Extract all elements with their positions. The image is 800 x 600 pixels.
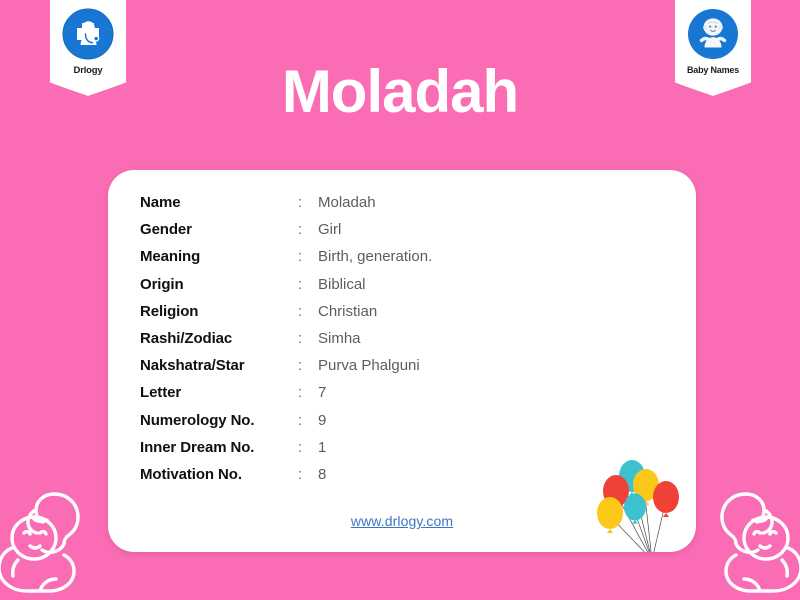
doctor-stethoscope-cross-icon [61,7,115,61]
row-label: Letter [140,384,298,401]
table-row: Gender : Girl [140,221,660,248]
name-details-table: Name : Moladah Gender : Girl Meaning : B… [140,194,660,493]
row-label: Motivation No. [140,466,298,483]
mother-and-baby-icon [0,476,106,600]
table-row: Religion : Christian [140,303,660,330]
row-separator: : [298,248,318,265]
table-row: Rashi/Zodiac : Simha [140,330,660,357]
row-separator: : [298,412,318,429]
table-row: Meaning : Birth, generation. [140,248,660,275]
page-title: Moladah [0,62,800,122]
row-value: Simha [318,330,361,347]
row-label: Numerology No. [140,412,298,429]
row-value: Birth, generation. [318,248,432,265]
row-separator: : [298,439,318,456]
baby-icon [686,7,740,61]
row-value: 7 [318,384,326,401]
row-label: Name [140,194,298,211]
table-row: Nakshatra/Star : Purva Phalguni [140,357,660,384]
row-label: Origin [140,276,298,293]
name-details-card: Name : Moladah Gender : Girl Meaning : B… [108,170,696,552]
row-value: 9 [318,412,326,429]
row-separator: : [298,276,318,293]
mother-and-baby-icon [694,476,800,600]
row-value: Biblical [318,276,366,293]
table-row: Motivation No. : 8 [140,466,660,493]
row-value: 1 [318,439,326,456]
row-value: Christian [318,303,377,320]
row-separator: : [298,194,318,211]
row-label: Nakshatra/Star [140,357,298,374]
table-row: Name : Moladah [140,194,660,221]
table-row: Letter : 7 [140,384,660,411]
row-separator: : [298,466,318,483]
row-separator: : [298,221,318,238]
row-separator: : [298,357,318,374]
row-label: Rashi/Zodiac [140,330,298,347]
row-separator: : [298,303,318,320]
website-link[interactable]: www.drlogy.com [108,513,696,529]
row-label: Inner Dream No. [140,439,298,456]
row-value: Purva Phalguni [318,357,420,374]
row-label: Religion [140,303,298,320]
row-label: Gender [140,221,298,238]
row-separator: : [298,330,318,347]
row-label: Meaning [140,248,298,265]
row-value: Girl [318,221,341,238]
table-row: Inner Dream No. : 1 [140,439,660,466]
table-row: Numerology No. : 9 [140,412,660,439]
row-value: Moladah [318,194,376,211]
table-row: Origin : Biblical [140,276,660,303]
name-meaning-card-page: Drlogy Baby Names Moladah [0,0,800,600]
row-separator: : [298,384,318,401]
row-value: 8 [318,466,326,483]
